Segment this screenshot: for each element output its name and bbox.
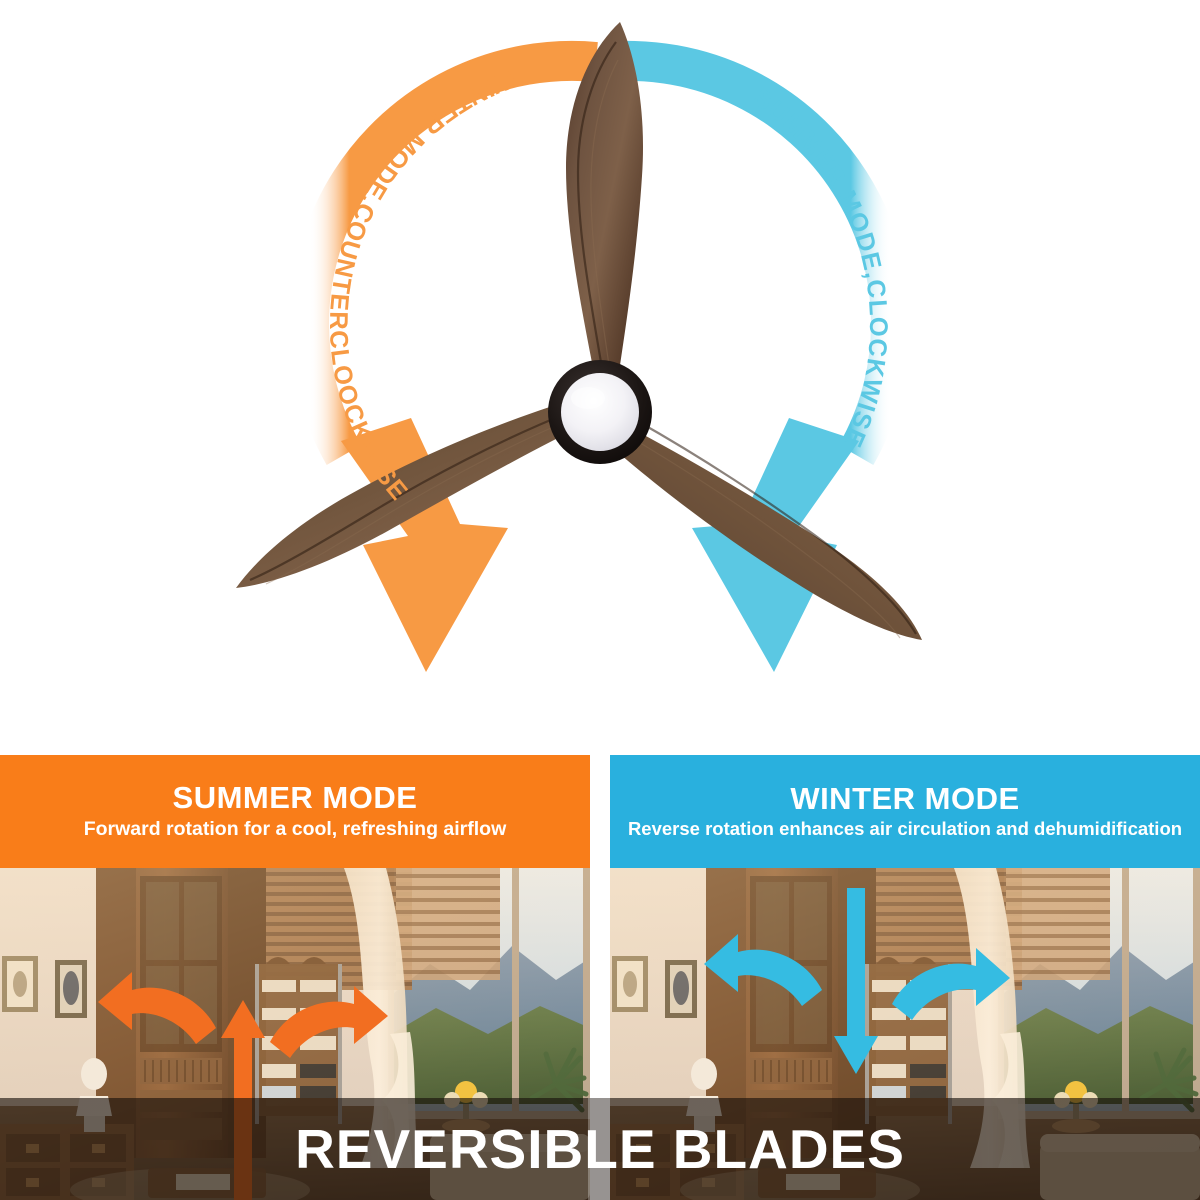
summer-mode-title: SUMMER MODE: [173, 782, 418, 815]
fan-light: [561, 373, 639, 451]
summer-mode-band: SUMMER MODE Forward rotation for a cool,…: [0, 755, 590, 868]
rotation-diagram: WINTER MODE,COUNTERCLOOCKWISE SUMMER MOD…: [0, 0, 1200, 730]
winter-mode-subtitle: Reverse rotation enhances air circulatio…: [618, 818, 1192, 840]
reversible-blades-banner: REVERSIBLE BLADES: [0, 1098, 1200, 1200]
rotation-diagram-svg: WINTER MODE,COUNTERCLOOCKWISE SUMMER MOD…: [0, 0, 1200, 730]
summer-arc-label: SUMMER MODE,CLOCKWISE: [748, 84, 892, 452]
winter-mode-title: WINTER MODE: [790, 783, 1019, 816]
infographic-page: WINTER MODE,COUNTERCLOOCKWISE SUMMER MOD…: [0, 0, 1200, 1200]
reversible-blades-text: REVERSIBLE BLADES: [295, 1122, 905, 1177]
summer-mode-subtitle: Forward rotation for a cool, refreshing …: [74, 818, 517, 841]
winter-mode-band: WINTER MODE Reverse rotation enhances ai…: [610, 755, 1200, 868]
